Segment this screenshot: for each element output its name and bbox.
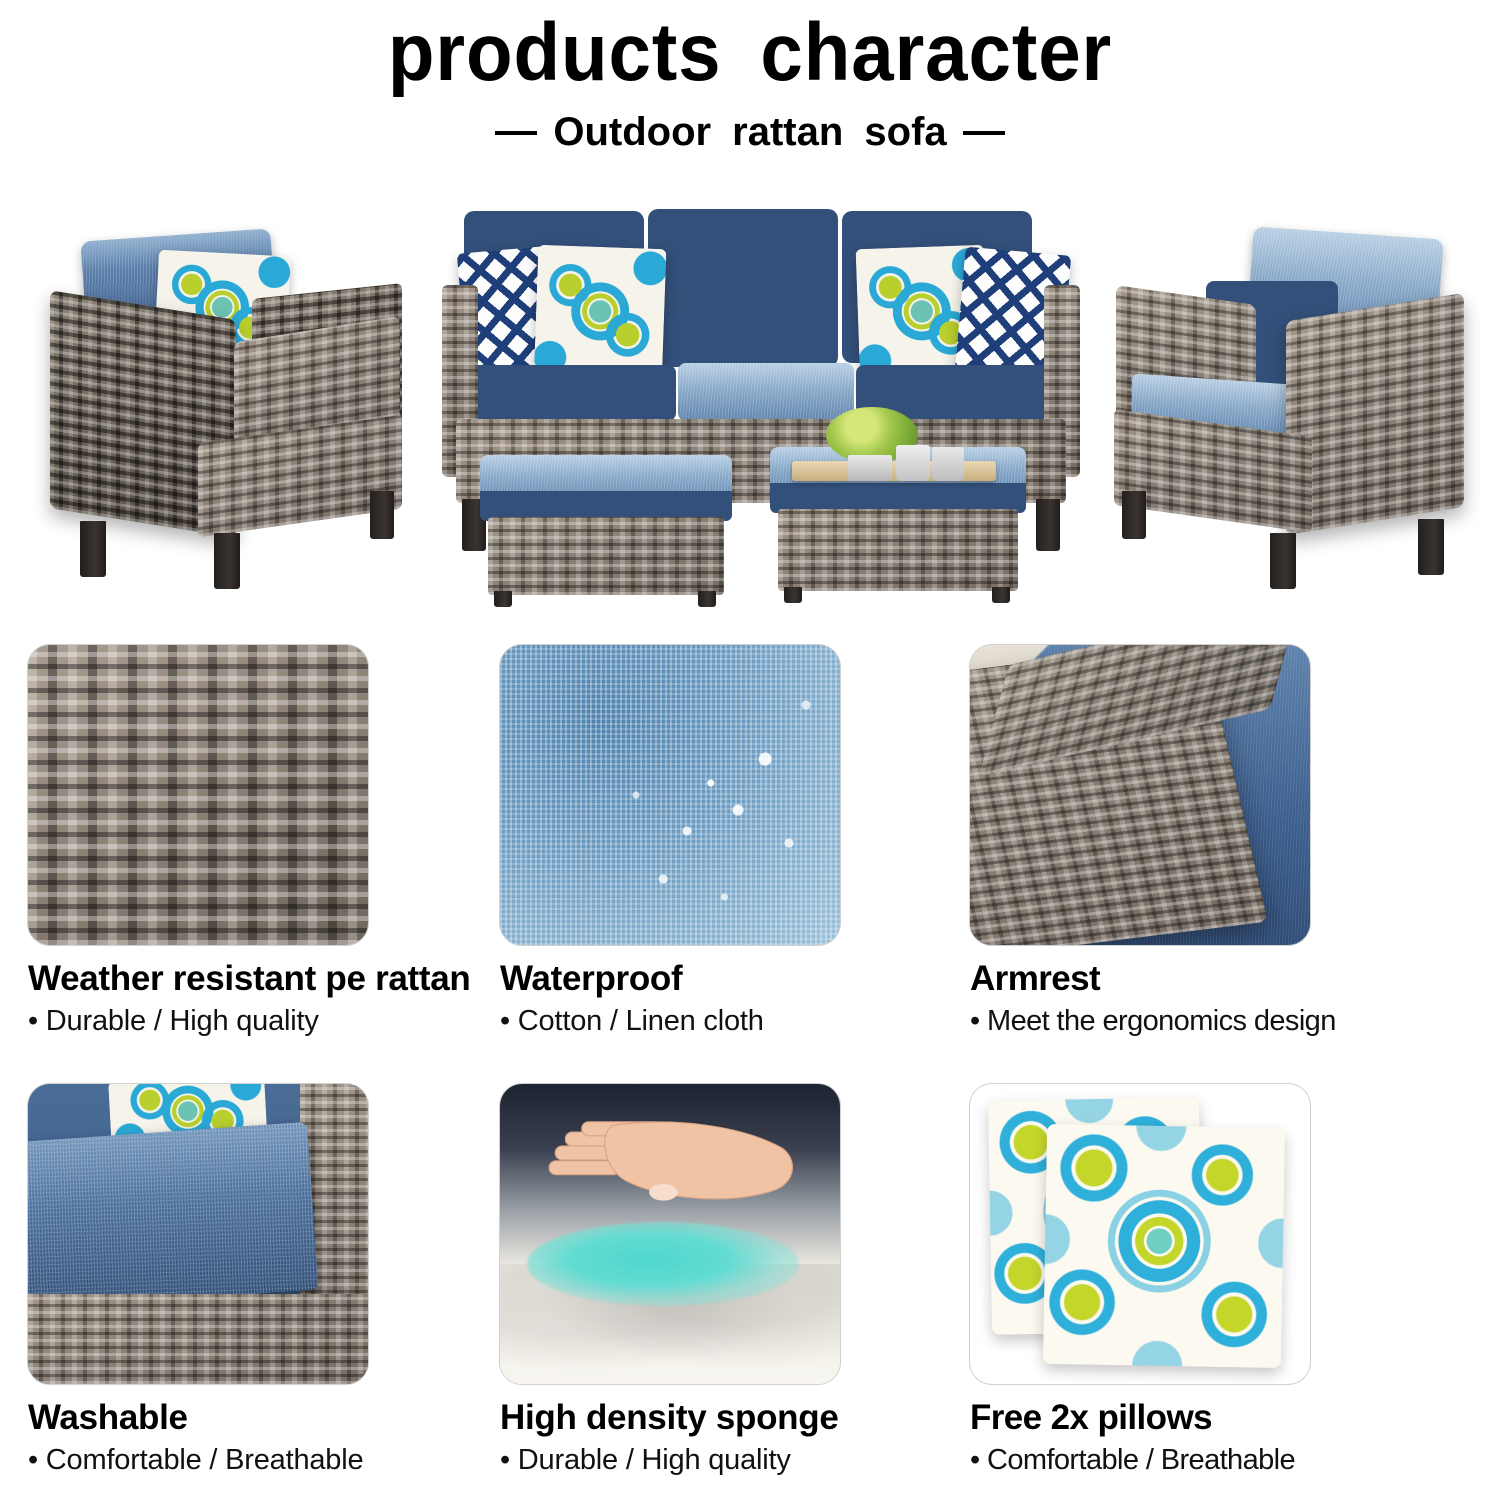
right-chair-front-arm bbox=[1286, 293, 1464, 535]
feature-title: Armrest bbox=[970, 959, 1440, 999]
cup-left bbox=[896, 445, 930, 481]
hand-pressing-memory-foam-image bbox=[500, 1084, 840, 1384]
blue-cushion-closeup-image bbox=[28, 1084, 368, 1384]
feature-cell-high-density-sponge: High density sponge • Durable / High qua… bbox=[480, 1084, 960, 1477]
ottoman-right-leg-left bbox=[784, 587, 802, 603]
feature-cell-washable: Washable • Comfortable / Breathable bbox=[0, 1084, 480, 1477]
ottoman-left-leg-left bbox=[494, 591, 512, 607]
page-subtitle: Outdoor rattan sofa bbox=[0, 110, 1500, 155]
sofa-leg-right bbox=[1036, 499, 1060, 551]
feature-title: High density sponge bbox=[500, 1398, 960, 1438]
wood-tray-with-plant bbox=[792, 413, 996, 497]
washable-base-rattan bbox=[28, 1294, 368, 1384]
left-armchair bbox=[38, 233, 398, 589]
right-chair-leg-back-right bbox=[1418, 519, 1444, 575]
feature-title: Weather resistant pe rattan bbox=[28, 959, 480, 999]
feature-cell-waterproof: Waterproof • Cotton / Linen cloth bbox=[480, 645, 960, 1038]
subtitle-dash-left-icon bbox=[495, 131, 537, 135]
pillow-front bbox=[1043, 1124, 1285, 1368]
left-chair-leg-front-right bbox=[214, 533, 240, 589]
feature-title: Free 2x pillows bbox=[970, 1398, 1440, 1438]
subtitle-dash-right-icon bbox=[963, 131, 1005, 135]
feature-bullet: • Comfortable / Breathable bbox=[28, 1444, 480, 1477]
ottoman-right-leg-right bbox=[992, 587, 1010, 603]
rattan-weave-closeup-image bbox=[28, 645, 368, 945]
right-armchair bbox=[1100, 233, 1470, 589]
three-seat-sofa bbox=[440, 207, 1080, 607]
feature-title: Washable bbox=[28, 1398, 480, 1438]
sofa-seat-cushion-left bbox=[466, 365, 676, 421]
washable-seat-cushion bbox=[28, 1122, 319, 1310]
feature-cell-weather-resistant-pe-rattan: Weather resistant pe rattan • Durable / … bbox=[0, 645, 480, 1038]
left-chair-leg-back-right bbox=[370, 491, 394, 539]
rattan-armrest-closeup-image bbox=[970, 645, 1310, 945]
ottoman-left-base bbox=[488, 517, 724, 595]
ottoman-right-base bbox=[778, 509, 1018, 591]
cup-right bbox=[932, 447, 964, 481]
right-chair-leg-front-left bbox=[1122, 491, 1146, 539]
hand-icon bbox=[541, 1120, 806, 1222]
ottoman-left bbox=[480, 455, 732, 607]
water-beading-fabric-closeup-image bbox=[500, 645, 840, 945]
wood-tray bbox=[792, 461, 996, 481]
feature-cell-free-2x-pillows: Free 2x pillows • Comfortable / Breathab… bbox=[960, 1084, 1440, 1477]
feature-bullet: • Cotton / Linen cloth bbox=[500, 1005, 960, 1038]
feature-title: Waterproof bbox=[500, 959, 960, 999]
feature-cell-armrest: Armrest • Meet the ergonomics design bbox=[960, 645, 1440, 1038]
two-suzani-pattern-pillows-image bbox=[970, 1084, 1310, 1384]
feature-bullet: • Meet the ergonomics design bbox=[970, 1005, 1440, 1038]
hero-product-photo bbox=[30, 195, 1470, 615]
feature-row-2: Washable • Comfortable / Breathable bbox=[0, 1084, 1500, 1477]
right-chair-leg-front-right bbox=[1270, 533, 1296, 589]
feature-row-1: Weather resistant pe rattan • Durable / … bbox=[0, 645, 1500, 1038]
feature-grid: Weather resistant pe rattan • Durable / … bbox=[0, 645, 1500, 1477]
page-title: products character bbox=[53, 12, 1448, 94]
plant-pot bbox=[848, 455, 892, 481]
hero-stage bbox=[30, 195, 1470, 615]
ottoman-left-leg-right bbox=[698, 591, 716, 607]
sofa-back-cushion-center bbox=[648, 209, 838, 367]
page-header: products character Outdoor rattan sofa bbox=[0, 0, 1500, 155]
page-subtitle-text: Outdoor rattan sofa bbox=[553, 110, 946, 155]
feature-bullet: • Durable / High quality bbox=[28, 1005, 480, 1038]
foam-pressure-glow bbox=[527, 1222, 799, 1306]
feature-bullet: • Durable / High quality bbox=[500, 1444, 960, 1477]
feature-bullet: • Comfortable / Breathable bbox=[970, 1444, 1440, 1477]
left-chair-leg-front-left bbox=[80, 521, 106, 577]
